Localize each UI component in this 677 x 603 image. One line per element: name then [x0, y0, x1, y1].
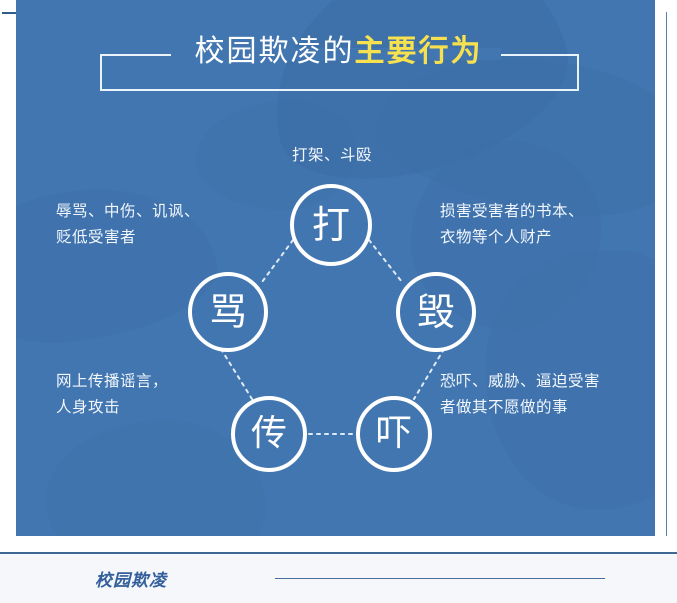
footer-title: 校园欺凌 — [95, 566, 167, 591]
right-edge-rule — [666, 12, 667, 542]
footer-rule — [275, 578, 605, 579]
page-title-plain: 校园欺凌的 — [195, 34, 355, 69]
behaviour-diagram: 打架、斗殴 打 骂 毁 传 吓 辱骂、中伤、讥讽、 贬低受害者 损害受害者的书本… — [16, 0, 655, 536]
top-left-dash — [2, 12, 16, 14]
caption-chuan: 网上传播谣言， 人身攻击 — [56, 368, 168, 420]
node-xia[interactable]: 吓 — [356, 396, 432, 472]
node-hui[interactable]: 毁 — [396, 272, 476, 352]
poster-panel: 打架、斗殴 打 骂 毁 传 吓 辱骂、中伤、讥讽、 贬低受害者 损害受害者的书本… — [16, 0, 655, 536]
poster-page: 打架、斗殴 打 骂 毁 传 吓 辱骂、中伤、讥讽、 贬低受害者 损害受害者的书本… — [0, 0, 677, 601]
caption-da: 打架、斗殴 — [272, 142, 392, 168]
diagram-connectors — [16, 0, 655, 536]
page-title-accent: 主要行为 — [355, 34, 483, 69]
page-title: 校园欺凌的主要行为 — [0, 30, 677, 74]
caption-xia: 恐吓、威胁、逼迫受害 者做其不愿做的事 — [440, 368, 600, 420]
footer-bar: 校园欺凌 — [0, 552, 677, 603]
node-chuan[interactable]: 传 — [231, 396, 307, 472]
node-ma[interactable]: 骂 — [188, 272, 268, 352]
caption-ma: 辱骂、中伤、讥讽、 贬低受害者 — [56, 198, 200, 250]
panel-footer-gap — [0, 536, 677, 552]
node-da[interactable]: 打 — [290, 184, 372, 266]
caption-hui: 损害受害者的书本、 衣物等个人财产 — [440, 198, 584, 250]
